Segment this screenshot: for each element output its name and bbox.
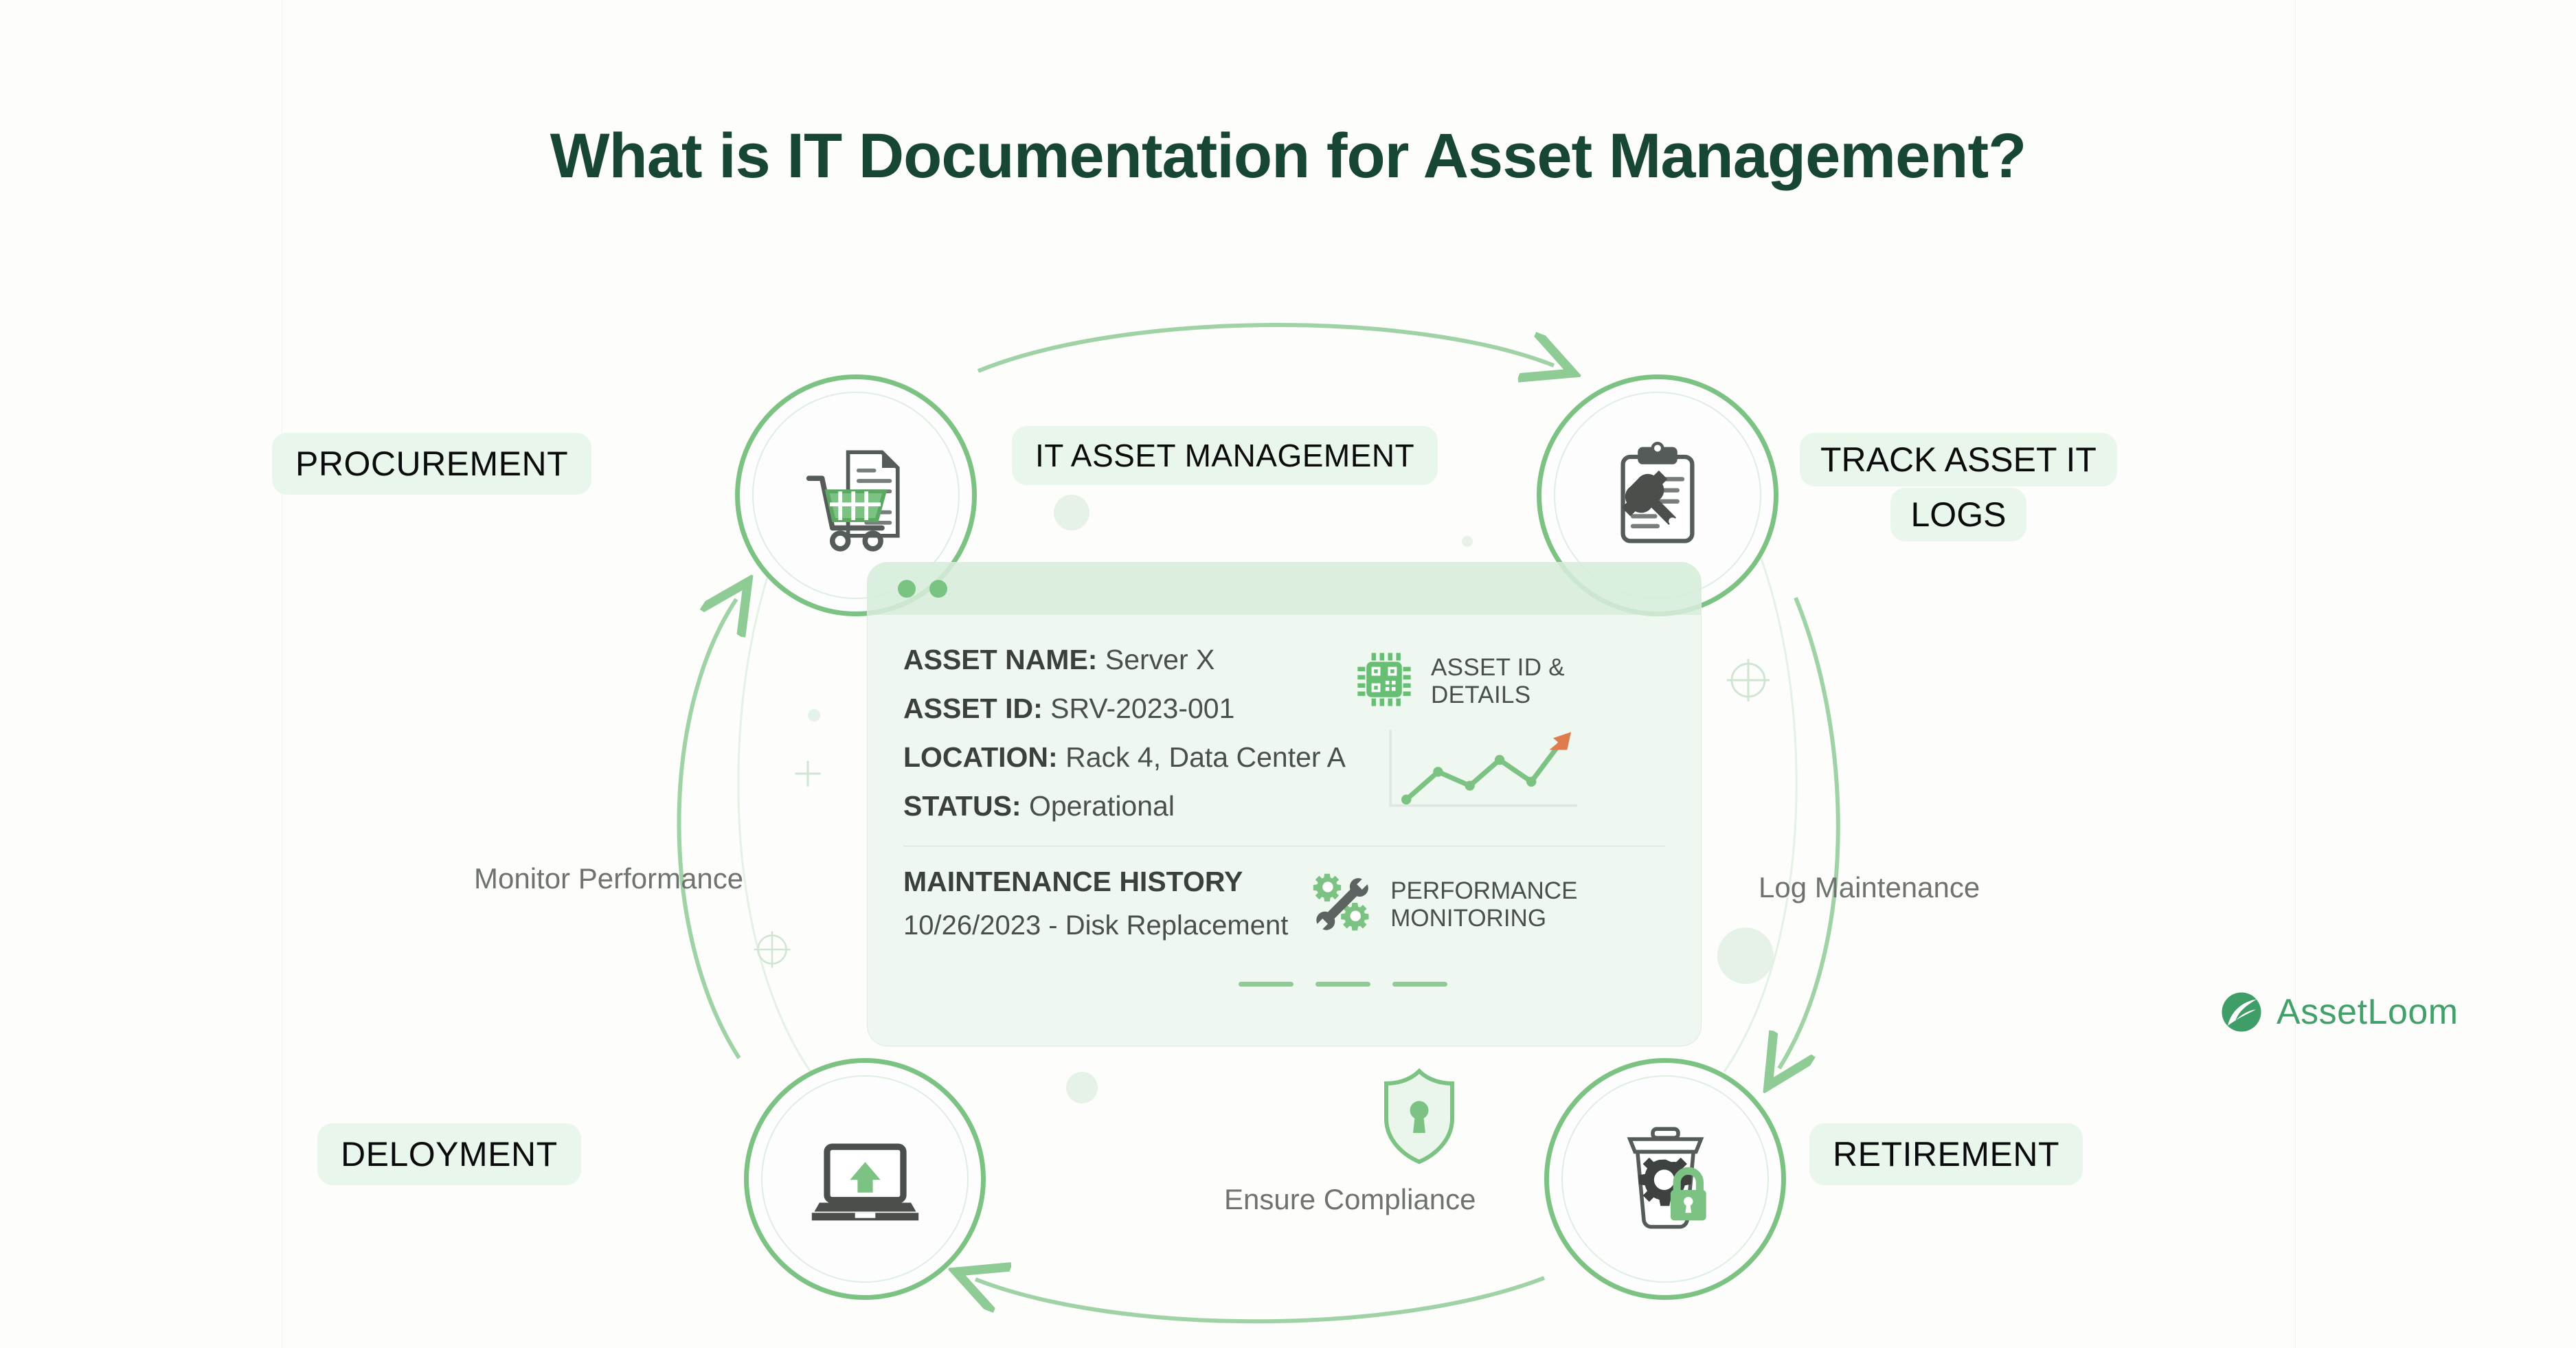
field-asset-id: ASSET ID: SRV-2023-001 — [903, 693, 1346, 725]
node-label-track-line1: TRACK ASSET IT — [1800, 433, 2117, 486]
node-label-track-asset-it-logs: TRACK ASSET IT LOGS — [1800, 433, 2117, 541]
connector-label-ensure-compliance: Ensure Compliance — [1224, 1183, 1476, 1216]
card-progress-dashes — [1239, 982, 1447, 987]
laptop-upload-icon — [802, 1114, 929, 1244]
maintenance-history-entry: 10/26/2023 - Disk Replacement — [903, 910, 1311, 941]
node-label-retirement: RETIREMENT — [1809, 1123, 2083, 1185]
chip-qr-icon — [1353, 648, 1416, 715]
leaf-circle-icon — [2220, 991, 2263, 1033]
clipboard-wrench-icon — [1596, 432, 1719, 559]
field-label: LOCATION: — [903, 741, 1058, 773]
field-value: SRV-2023-001 — [1050, 693, 1234, 724]
center-label: IT ASSET MANAGEMENT — [1012, 426, 1438, 485]
field-label: ASSET NAME: — [903, 644, 1097, 675]
window-dot-icon — [898, 580, 916, 598]
plus-icon — [790, 756, 826, 791]
field-value: Rack 4, Data Center A — [1065, 741, 1346, 773]
connector-label-monitor-performance: Monitor Performance — [474, 862, 743, 895]
node-label-procurement: PROCUREMENT — [272, 433, 591, 495]
asset-fields: ASSET NAME: Server X ASSET ID: SRV-2023-… — [903, 644, 1346, 839]
trash-gear-lock-icon — [1602, 1114, 1729, 1244]
label-line2: MONITORING — [1390, 905, 1546, 932]
maintenance-history: MAINTENANCE HISTORY 10/26/2023 - Disk Re… — [903, 866, 1311, 941]
field-location: LOCATION: Rack 4, Data Center A — [903, 741, 1346, 774]
crosshair-icon — [752, 929, 793, 970]
field-value: Operational — [1029, 790, 1175, 822]
window-dot-icon — [929, 580, 947, 598]
asset-id-details-label: ASSET ID & DETAILS — [1431, 654, 1565, 708]
shield-keyhole-icon — [1378, 1065, 1460, 1168]
field-label: STATUS: — [903, 790, 1021, 822]
card-title-bar — [868, 563, 1701, 615]
dash — [1315, 982, 1370, 987]
field-asset-name: ASSET NAME: Server X — [903, 644, 1346, 676]
field-value: Server X — [1105, 644, 1215, 675]
card-body: ASSET NAME: Server X ASSET ID: SRV-2023-… — [868, 615, 1701, 839]
label-line2: DETAILS — [1431, 682, 1530, 708]
infographic-stage: What is IT Documentation for Asset Manag… — [0, 0, 2576, 1348]
node-retirement[interactable] — [1544, 1058, 1786, 1300]
shopping-cart-document-icon — [791, 429, 921, 563]
performance-monitoring-item: PERFORMANCE MONITORING — [1311, 866, 1665, 939]
performance-trend-chart — [1372, 724, 1592, 813]
connector-label-log-maintenance: Log Maintenance — [1759, 871, 1980, 904]
assetloom-logo[interactable]: AssetLoom — [2220, 991, 2459, 1033]
node-deployment[interactable] — [744, 1058, 986, 1300]
gears-wrench-icon — [1311, 870, 1377, 939]
field-status: STATUS: Operational — [903, 790, 1346, 822]
card-side-column: ASSET ID & DETAILS — [1346, 644, 1665, 839]
card-lower-section: MAINTENANCE HISTORY 10/26/2023 - Disk Re… — [868, 846, 1701, 941]
dash — [1239, 982, 1293, 987]
node-label-track-line2: LOGS — [1890, 488, 2027, 541]
maintenance-history-heading: MAINTENANCE HISTORY — [903, 866, 1311, 898]
dash — [1392, 982, 1447, 987]
label-line1: PERFORMANCE — [1390, 877, 1577, 904]
field-label: ASSET ID: — [903, 693, 1043, 724]
node-label-deployment: DELOYMENT — [317, 1123, 581, 1185]
performance-monitoring-label: PERFORMANCE MONITORING — [1390, 877, 1577, 931]
crosshair-icon — [1724, 656, 1772, 704]
asset-detail-card: ASSET NAME: Server X ASSET ID: SRV-2023-… — [867, 562, 1702, 1046]
assetloom-wordmark: AssetLoom — [2276, 991, 2459, 1033]
label-line1: ASSET ID & — [1431, 654, 1565, 681]
asset-id-details-item: ASSET ID & DETAILS — [1353, 648, 1665, 715]
